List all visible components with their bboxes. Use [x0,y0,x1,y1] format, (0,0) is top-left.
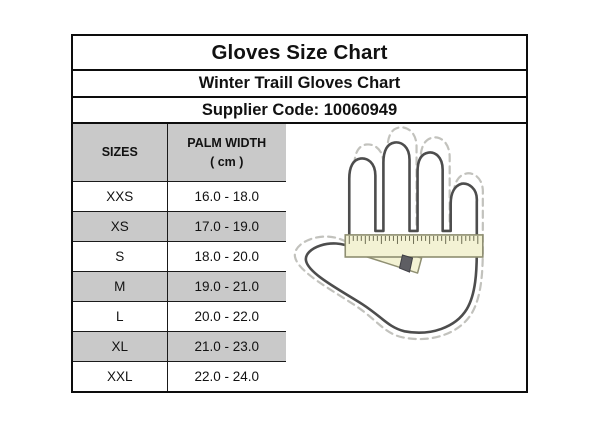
cell-palm-width: 16.0 - 18.0 [167,182,286,212]
table-header-row: SIZES PALM WIDTH ( cm ) [73,124,286,182]
cell-palm-width: 19.0 - 21.0 [167,272,286,302]
cell-size: S [73,242,167,272]
measuring-tape [345,235,483,257]
table-row: XXL 22.0 - 24.0 [73,362,286,392]
chart-subtitle: Winter Traill Gloves Chart [73,71,526,98]
size-table: SIZES PALM WIDTH ( cm ) XXS 16.0 - 18.0 … [73,124,286,391]
table-row: XS 17.0 - 19.0 [73,212,286,242]
cell-size: XL [73,332,167,362]
cell-palm-width: 17.0 - 19.0 [167,212,286,242]
figure-cell [286,124,526,391]
column-header-palm-width: PALM WIDTH ( cm ) [167,124,286,182]
cell-size: L [73,302,167,332]
column-header-palm-width-line2: ( cm ) [210,155,243,169]
cell-size: M [73,272,167,302]
table-row: XXS 16.0 - 18.0 [73,182,286,212]
hand-palm-measure-diagram [286,124,526,391]
table-row: M 19.0 - 21.0 [73,272,286,302]
table-row: XL 21.0 - 23.0 [73,332,286,362]
column-header-sizes: SIZES [73,124,167,182]
size-chart-frame: Gloves Size Chart Winter Traill Gloves C… [71,34,528,393]
column-header-palm-width-line1: PALM WIDTH [187,136,266,150]
size-table-container: SIZES PALM WIDTH ( cm ) XXS 16.0 - 18.0 … [73,124,286,391]
page-title: Gloves Size Chart [73,36,526,71]
cell-palm-width: 18.0 - 20.0 [167,242,286,272]
cell-size: XXL [73,362,167,392]
chart-body: SIZES PALM WIDTH ( cm ) XXS 16.0 - 18.0 … [73,124,526,391]
cell-size: XXS [73,182,167,212]
cell-palm-width: 22.0 - 24.0 [167,362,286,392]
cell-size: XS [73,212,167,242]
table-row: L 20.0 - 22.0 [73,302,286,332]
table-row: S 18.0 - 20.0 [73,242,286,272]
supplier-code-label: Supplier Code: 10060949 [73,98,526,124]
cell-palm-width: 21.0 - 23.0 [167,332,286,362]
cell-palm-width: 20.0 - 22.0 [167,302,286,332]
